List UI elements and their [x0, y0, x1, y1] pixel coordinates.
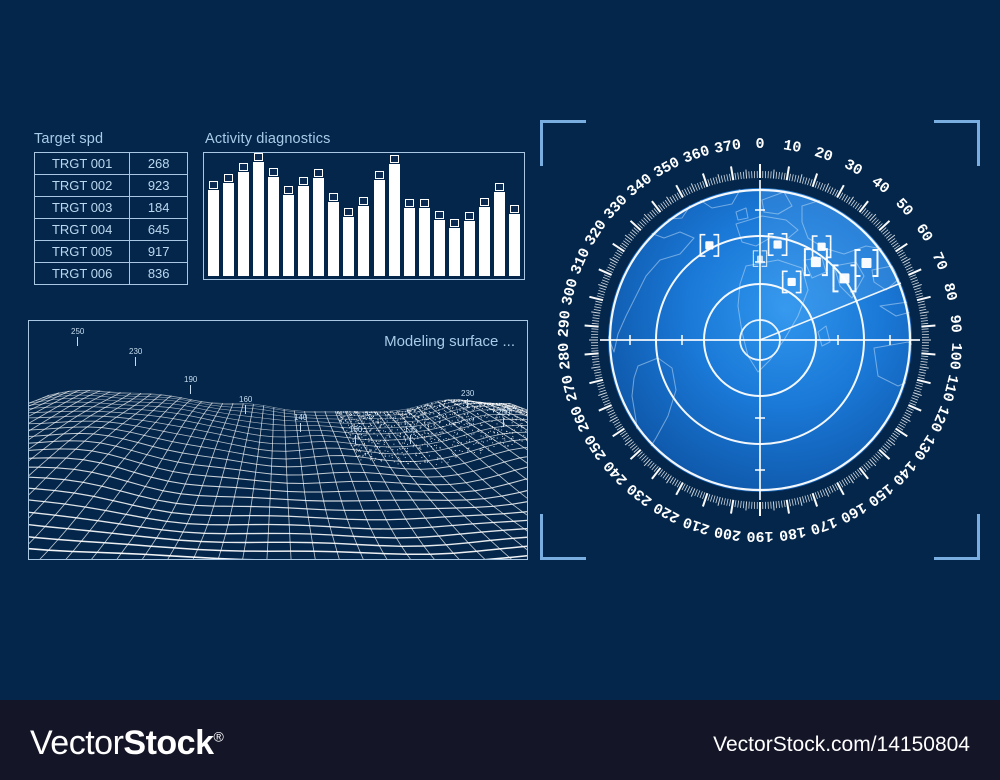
- elevation-marker: 250: [71, 327, 84, 346]
- radar-degree-label: 40: [868, 173, 893, 197]
- bar-item[interactable]: [343, 159, 354, 276]
- radar-degree-label: 330: [601, 192, 632, 223]
- table-row[interactable]: TRGT 003184: [35, 197, 188, 219]
- bar-item[interactable]: [238, 159, 249, 276]
- target-name-cell: TRGT 005: [35, 241, 130, 263]
- bar-fill: [374, 180, 385, 276]
- elevation-label: 230: [461, 389, 474, 398]
- bar-item[interactable]: [389, 159, 400, 276]
- bar-cap-icon: [344, 208, 353, 216]
- bar-fill: [298, 186, 309, 276]
- logo-light-text: Vector: [30, 724, 123, 762]
- bar-cap-icon: [359, 197, 368, 205]
- radar-degree-label: 200: [713, 522, 742, 543]
- radar-degree-label: 160: [837, 498, 869, 526]
- bar-item[interactable]: [298, 159, 309, 276]
- bar-cap-icon: [480, 198, 489, 206]
- bar-fill: [464, 221, 475, 276]
- bar-fill: [343, 217, 354, 277]
- radar-degree-label: 320: [582, 217, 611, 249]
- target-name-cell: TRGT 006: [35, 263, 130, 285]
- bar-cap-icon: [405, 199, 414, 207]
- radar-degree-label: 120: [926, 403, 952, 435]
- radar-display[interactable]: 0102030405060708090100110120130140150160…: [540, 120, 980, 560]
- bar-item[interactable]: [208, 159, 219, 276]
- radar-degree-label: 300: [559, 277, 582, 307]
- target-speed-cell: 268: [130, 153, 188, 175]
- bar-group: [208, 159, 520, 276]
- target-speed-cell: 923: [130, 175, 188, 197]
- elevation-tick-icon: [503, 418, 504, 427]
- radar-degree-label: 210: [681, 513, 712, 538]
- radar-svg: 0102030405060708090100110120130140150160…: [540, 120, 980, 560]
- table-row[interactable]: TRGT 005917: [35, 241, 188, 263]
- elevation-tick-icon: [300, 423, 301, 432]
- bar-fill: [268, 177, 279, 276]
- bar-fill: [434, 220, 445, 276]
- bar-cap-icon: [269, 168, 278, 176]
- radar-degree-label: 230: [624, 479, 656, 509]
- radar-degree-label: 70: [928, 250, 951, 273]
- radar-degree-label: 100: [945, 342, 964, 370]
- bar-cap-icon: [495, 183, 504, 191]
- bar-fill: [404, 208, 415, 276]
- radar-degree-label: 290: [556, 310, 575, 338]
- radar-degree-label: 20: [812, 144, 835, 166]
- bar-fill: [208, 190, 219, 276]
- registered-mark-icon: ®: [213, 729, 223, 745]
- elevation-marker: 230: [461, 389, 474, 408]
- bar-fill: [449, 228, 460, 276]
- elevation-marker: 190: [184, 375, 197, 394]
- radar-degree-label: 110: [938, 373, 961, 403]
- bar-fill: [358, 206, 369, 276]
- radar-degree-label: 190: [746, 527, 773, 544]
- bar-cap-icon: [390, 155, 399, 163]
- target-spd-table: TRGT 001268TRGT 002923TRGT 003184TRGT 00…: [34, 152, 188, 285]
- radar-degree-label: 170: [808, 513, 839, 538]
- elevation-marker: 230: [129, 347, 142, 366]
- elevation-label: 160: [239, 395, 252, 404]
- target-name-cell: TRGT 003: [35, 197, 130, 219]
- elevation-tick-icon: [410, 435, 411, 444]
- bar-fill: [389, 164, 400, 276]
- bar-cap-icon: [420, 199, 429, 207]
- radar-degree-label: 150: [864, 479, 896, 509]
- bar-item[interactable]: [449, 159, 460, 276]
- elevation-label: 140: [294, 413, 307, 422]
- radar-degree-label: 30: [841, 156, 865, 180]
- vectorstock-logo: VectorStock®: [30, 724, 223, 763]
- elevation-tick-icon: [245, 405, 246, 414]
- radar-degree-label: 240: [601, 457, 632, 488]
- crop-bracket-top-left-icon: [540, 120, 586, 166]
- bar-fill: [238, 172, 249, 276]
- radar-degree-label: 260: [568, 403, 594, 435]
- target-speed-cell: 917: [130, 241, 188, 263]
- bar-item[interactable]: [253, 159, 264, 276]
- bar-item[interactable]: [283, 159, 294, 276]
- bar-cap-icon: [450, 219, 459, 227]
- logo-bold-text: Stock: [123, 724, 213, 762]
- bar-cap-icon: [284, 186, 293, 194]
- bar-item[interactable]: [328, 159, 339, 276]
- watermark-url: VectorStock.com/14150804: [713, 733, 970, 757]
- activity-diagnostics-chart: [203, 152, 525, 280]
- bar-cap-icon: [435, 211, 444, 219]
- bar-cap-icon: [239, 163, 248, 171]
- bar-cap-icon: [314, 169, 323, 177]
- target-speed-cell: 645: [130, 219, 188, 241]
- radar-degree-label: 340: [624, 171, 656, 201]
- table-row[interactable]: TRGT 002923: [35, 175, 188, 197]
- radar-degree-label: 250: [582, 431, 611, 463]
- radar-degree-label: 220: [651, 498, 683, 526]
- bar-cap-icon: [209, 181, 218, 189]
- bar-cap-icon: [299, 177, 308, 185]
- bar-item[interactable]: [358, 159, 369, 276]
- bar-cap-icon: [465, 212, 474, 220]
- bar-item[interactable]: [479, 159, 490, 276]
- target-spd-heading: Target spd: [34, 131, 103, 147]
- bar-item[interactable]: [313, 159, 324, 276]
- bar-fill: [494, 192, 505, 276]
- bar-cap-icon: [254, 153, 263, 161]
- radar-degree-label: 310: [568, 246, 594, 278]
- bar-cap-icon: [224, 174, 233, 182]
- elevation-label: 130: [349, 425, 362, 434]
- radar-degree-label: 60: [912, 221, 936, 245]
- bar-fill: [223, 183, 234, 276]
- table-row[interactable]: TRGT 006836: [35, 263, 188, 285]
- crop-bracket-top-right-icon: [934, 120, 980, 166]
- bar-item[interactable]: [464, 159, 475, 276]
- radar-degree-label: 360: [681, 143, 712, 168]
- radar-degree-label: 90: [946, 314, 964, 333]
- bar-cap-icon: [329, 193, 338, 201]
- bar-cap-icon: [375, 171, 384, 179]
- target-name-cell: TRGT 002: [35, 175, 130, 197]
- target-name-cell: TRGT 001: [35, 153, 130, 175]
- elevation-label: 250: [71, 327, 84, 336]
- elevation-tick-icon: [355, 435, 356, 444]
- modeling-surface-title: Modeling surface ...: [384, 333, 515, 350]
- bar-item[interactable]: [223, 159, 234, 276]
- radar-degree-label: 280: [556, 342, 575, 370]
- radar-degree-label: 270: [559, 373, 582, 403]
- radar-degree-label: 370: [713, 137, 742, 158]
- watermark-footer: VectorStock® VectorStock.com/14150804: [0, 700, 1000, 780]
- radar-degree-label: 180: [777, 522, 806, 543]
- radar-degree-label: 50: [892, 195, 917, 220]
- bar-fill: [253, 162, 264, 276]
- bar-fill: [313, 178, 324, 276]
- table-row[interactable]: TRGT 001268: [35, 153, 188, 175]
- elevation-marker: 160: [239, 395, 252, 414]
- elevation-marker: 135: [404, 425, 417, 444]
- elevation-marker: 130: [349, 425, 362, 444]
- crop-bracket-bottom-right-icon: [934, 514, 980, 560]
- bar-item[interactable]: [494, 159, 505, 276]
- elevation-label: 230: [129, 347, 142, 356]
- bar-fill: [283, 195, 294, 276]
- elevation-marker: 140: [294, 413, 307, 432]
- radar-degree-label: 10: [782, 137, 803, 157]
- bar-cap-icon: [510, 205, 519, 213]
- target-speed-cell: 836: [130, 263, 188, 285]
- modeling-surface-panel: Modeling surface ... 2502301901601401301…: [28, 320, 528, 560]
- radar-degree-label: 80: [939, 281, 960, 303]
- elevation-tick-icon: [77, 337, 78, 346]
- radar-degree-label: 0: [755, 136, 764, 153]
- bar-item[interactable]: [509, 159, 520, 276]
- bar-fill: [509, 214, 520, 276]
- elevation-tick-icon: [190, 385, 191, 394]
- elevation-label: 135: [404, 425, 417, 434]
- activity-diagnostics-heading: Activity diagnostics: [205, 131, 331, 147]
- elevation-tick-icon: [135, 357, 136, 366]
- crop-bracket-bottom-left-icon: [540, 514, 586, 560]
- radar-degree-label: 130: [909, 431, 938, 463]
- bar-item[interactable]: [268, 159, 279, 276]
- target-speed-cell: 184: [130, 197, 188, 219]
- bar-fill: [328, 202, 339, 276]
- bar-fill: [419, 208, 430, 276]
- terrain-wireframe: [29, 321, 528, 560]
- elevation-label: 190: [184, 375, 197, 384]
- bar-item[interactable]: [404, 159, 415, 276]
- elevation-tick-icon: [467, 399, 468, 408]
- bar-fill: [479, 207, 490, 276]
- radar-degree-label: 140: [888, 457, 919, 488]
- hud-screen: Target spd TRGT 001268TRGT 002923TRGT 00…: [0, 0, 1000, 780]
- bar-item[interactable]: [434, 159, 445, 276]
- table-row[interactable]: TRGT 004645: [35, 219, 188, 241]
- bar-item[interactable]: [374, 159, 385, 276]
- elevation-label: 250: [497, 408, 510, 417]
- bar-item[interactable]: [419, 159, 430, 276]
- radar-degree-label: 350: [651, 154, 683, 182]
- elevation-marker: 250: [497, 408, 510, 427]
- target-name-cell: TRGT 004: [35, 219, 130, 241]
